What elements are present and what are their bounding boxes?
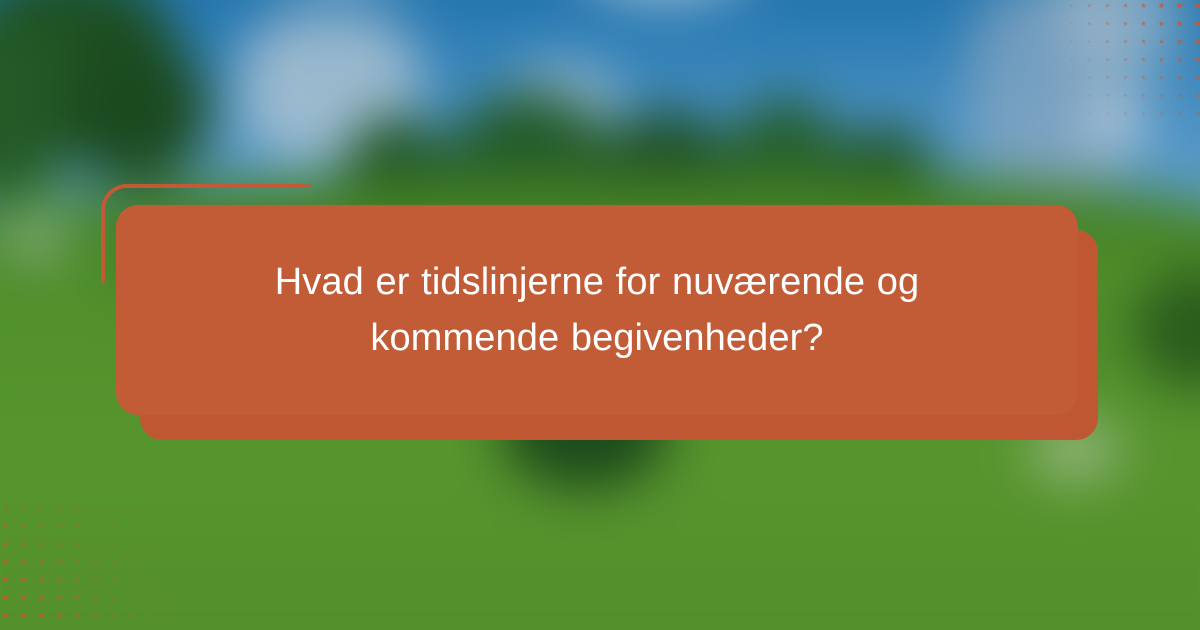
quote-card: Hvad er tidslinjerne for nuværende og ko… <box>116 205 1078 415</box>
social-card-stage: Hvad er tidslinjerne for nuværende og ko… <box>0 0 1200 630</box>
card-headline: Hvad er tidslinjerne for nuværende og ko… <box>247 254 947 366</box>
quote-card-group: Hvad er tidslinjerne for nuværende og ko… <box>0 0 1200 630</box>
